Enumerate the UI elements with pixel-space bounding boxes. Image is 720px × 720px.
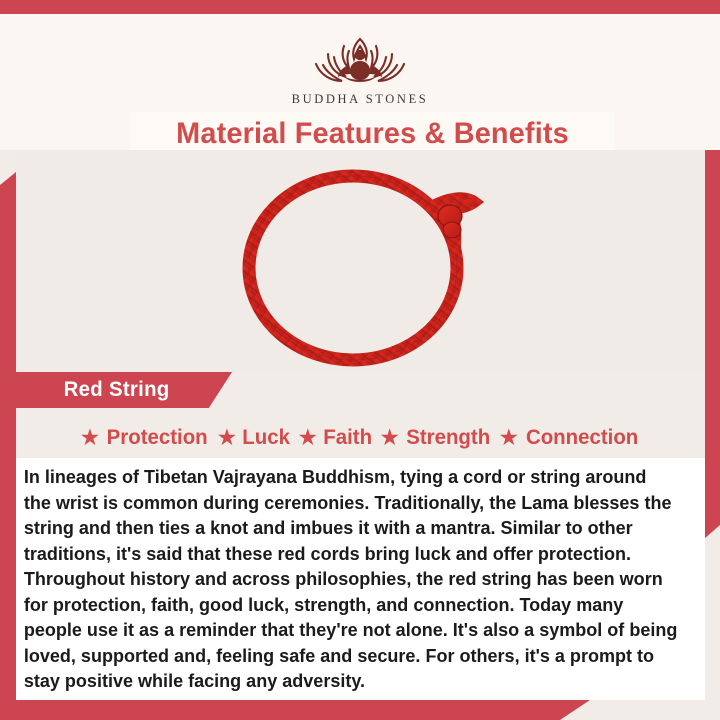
header: BUDDHA STONES Material Features & Benefi… (0, 14, 720, 150)
lotus-meditation-icon (0, 32, 720, 90)
red-braided-string-bracelet (231, 158, 491, 373)
feature-label: Luck (243, 425, 291, 450)
brand-logo: BUDDHA STONES (0, 32, 720, 107)
feature-item-strength: ★ Strength (379, 425, 492, 450)
feature-label: Strength (406, 425, 490, 450)
feature-label: Connection (526, 425, 638, 450)
feature-item-protection: ★ Protection (80, 425, 211, 450)
star-icon: ★ (498, 426, 519, 449)
feature-label: Faith (323, 425, 372, 450)
decorative-bottom-bar (0, 700, 560, 720)
product-image-area (16, 150, 705, 372)
star-icon: ★ (80, 426, 101, 449)
description-block: In lineages of Tibetan Vajrayana Buddhis… (16, 458, 705, 700)
features-row: ★ Protection ★ Luck ★ Faith ★ Strength ★… (16, 418, 705, 456)
feature-item-luck: ★ Luck (217, 425, 292, 450)
feature-item-connection: ★ Connection (498, 425, 641, 450)
page-title: Material Features & Benefits (176, 117, 569, 151)
star-icon: ★ (379, 426, 400, 449)
product-name-label: Red String (64, 378, 170, 402)
star-icon: ★ (297, 426, 318, 449)
decorative-left-bar (0, 185, 16, 701)
star-icon: ★ (217, 426, 238, 449)
brand-name: BUDDHA STONES (0, 92, 720, 107)
feature-item-faith: ★ Faith (297, 425, 373, 450)
description-text: In lineages of Tibetan Vajrayana Buddhis… (16, 458, 691, 694)
decorative-top-bar (0, 0, 720, 14)
feature-label: Protection (107, 425, 208, 450)
product-name-banner: Red String (0, 372, 232, 408)
infographic-poster: BUDDHA STONES Material Features & Benefi… (0, 0, 720, 720)
